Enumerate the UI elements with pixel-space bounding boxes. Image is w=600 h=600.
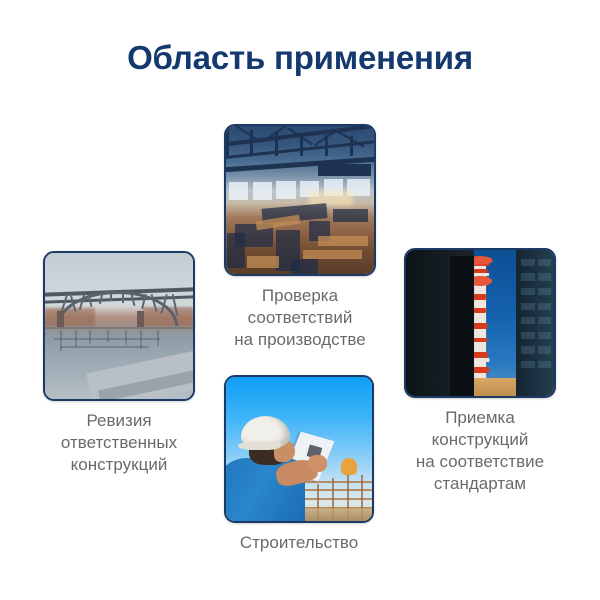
construction-worker-image [226,377,372,521]
card-bridge[interactable]: Ревизия ответственных конструкций [43,251,195,476]
card-tower[interactable]: Приемка конструкций на соответствие стан… [404,248,556,495]
card-building[interactable]: Строительство [224,375,374,554]
bridge-thumbnail[interactable] [43,251,195,401]
bridge-caption: Ревизия ответственных конструкций [43,410,195,476]
factory-thumbnail[interactable] [224,124,376,276]
tower-caption: Приемка конструкций на соответствие стан… [404,407,556,495]
page-title: Область применения [0,39,600,77]
factory-caption: Проверка соответствий на производстве [224,285,376,351]
industrial-factory-image [226,126,374,274]
card-factory[interactable]: Проверка соответствий на производстве [224,124,376,351]
lattice-tower-image [406,250,554,396]
steel-arch-bridge-image [45,253,193,399]
tower-thumbnail[interactable] [404,248,556,398]
building-thumbnail[interactable] [224,375,374,523]
building-caption: Строительство [224,532,374,554]
